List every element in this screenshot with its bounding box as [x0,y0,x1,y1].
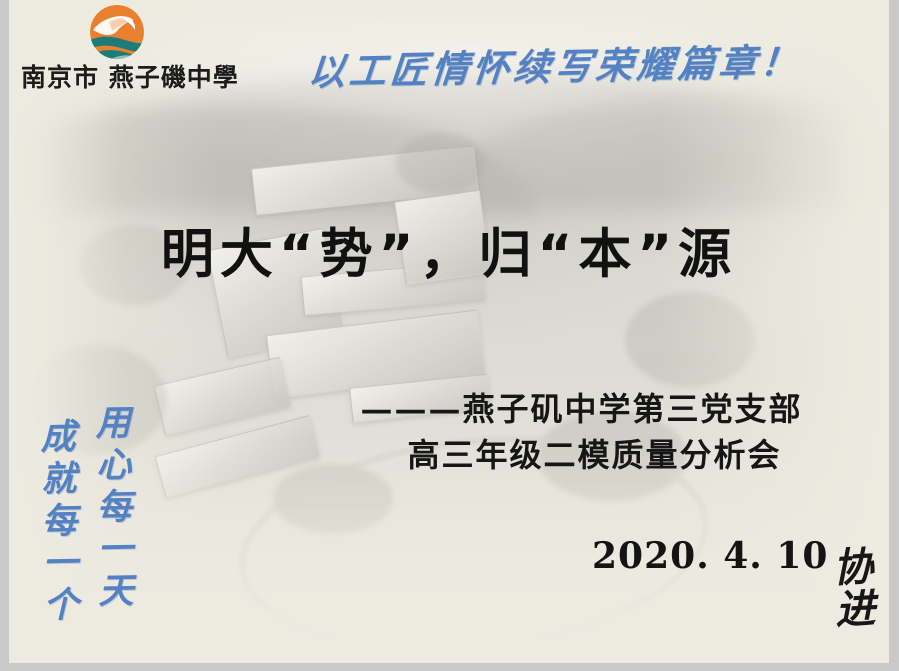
motto-column-right: 用心每一天 [92,404,131,615]
subtitle-line-organization: ———燕子矶中学第三党支部 [309,386,854,432]
motto-column-left: 成就每一个 [37,418,76,629]
subtitle-line-meeting: 高三年级二模质量分析会 [309,432,854,478]
presentation-slide: 南京市 燕子磯中學 以工匠情怀续写荣耀篇章！ 明大“势”，归“本”源 ———燕子… [0,0,899,671]
school-logo[interactable]: 南京市 燕子磯中學 [17,4,249,96]
frame-edge-bottom [0,663,899,671]
school-name-text: 南京市 燕子磯中學 [21,58,249,92]
presentation-date: 2020. 4. 10 [592,535,828,577]
slide-canvas: 南京市 燕子磯中學 以工匠情怀续写荣耀篇章！ 明大“势”，归“本”源 ———燕子… [9,0,889,663]
school-emblem-icon [79,4,155,60]
calligraphy-stamp: 协进 [829,545,871,631]
frame-edge-left [0,0,9,671]
frame-edge-right [889,0,899,671]
page-title: 明大“势”，归“本”源 [9,212,889,288]
subtitle-block: ———燕子矶中学第三党支部 高三年级二模质量分析会 [309,386,854,479]
